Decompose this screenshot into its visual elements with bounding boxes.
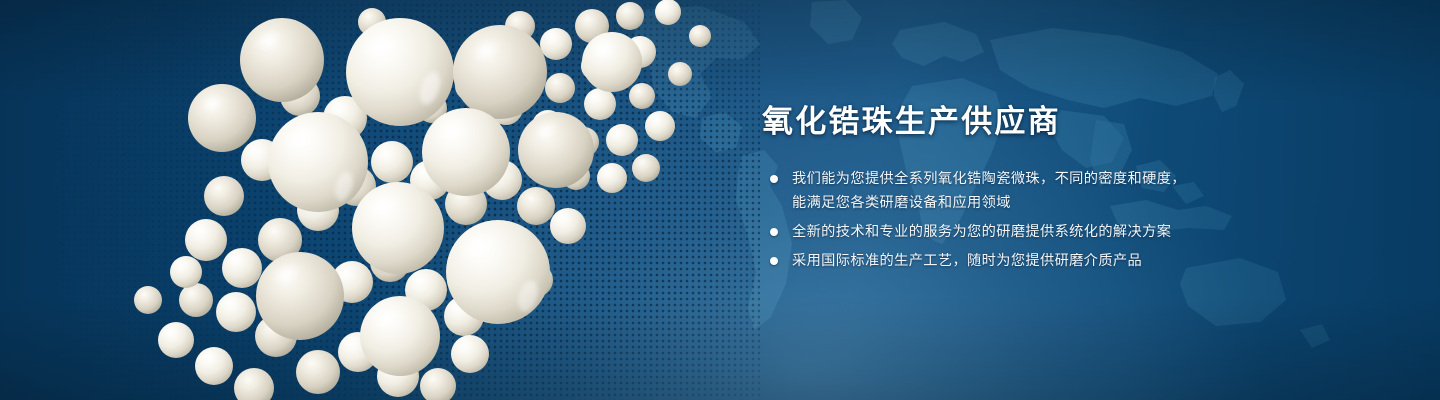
bullet-dot-icon	[770, 228, 778, 236]
bullet-dot-icon	[770, 175, 778, 183]
banner-copy: 氧化锆珠生产供应商 我们能为您提供全系列氧化锆陶瓷微珠，不同的密度和硬度， 能满…	[762, 104, 1282, 272]
bullet-dot-icon	[770, 257, 778, 265]
hero-banner: 氧化锆珠生产供应商 我们能为您提供全系列氧化锆陶瓷微珠，不同的密度和硬度， 能满…	[0, 0, 1440, 400]
zirconia-beads-image	[0, 0, 760, 400]
list-item-line: 能满足您各类研磨设备和应用领域	[792, 192, 1282, 214]
page-title: 氧化锆珠生产供应商	[762, 104, 1282, 140]
list-item: 采用国际标准的生产工艺，随时为您提供研磨介质产品	[762, 250, 1282, 272]
feature-list: 我们能为您提供全系列氧化锆陶瓷微珠，不同的密度和硬度， 能满足您各类研磨设备和应…	[762, 168, 1282, 272]
list-item-line: 我们能为您提供全系列氧化锆陶瓷微珠，不同的密度和硬度，	[792, 168, 1282, 190]
list-item: 全新的技术和专业的服务为您的研磨提供系统化的解决方案	[762, 221, 1282, 243]
list-item: 我们能为您提供全系列氧化锆陶瓷微珠，不同的密度和硬度， 能满足您各类研磨设备和应…	[762, 168, 1282, 214]
list-item-line: 采用国际标准的生产工艺，随时为您提供研磨介质产品	[792, 250, 1282, 272]
list-item-line: 全新的技术和专业的服务为您的研磨提供系统化的解决方案	[792, 221, 1282, 243]
